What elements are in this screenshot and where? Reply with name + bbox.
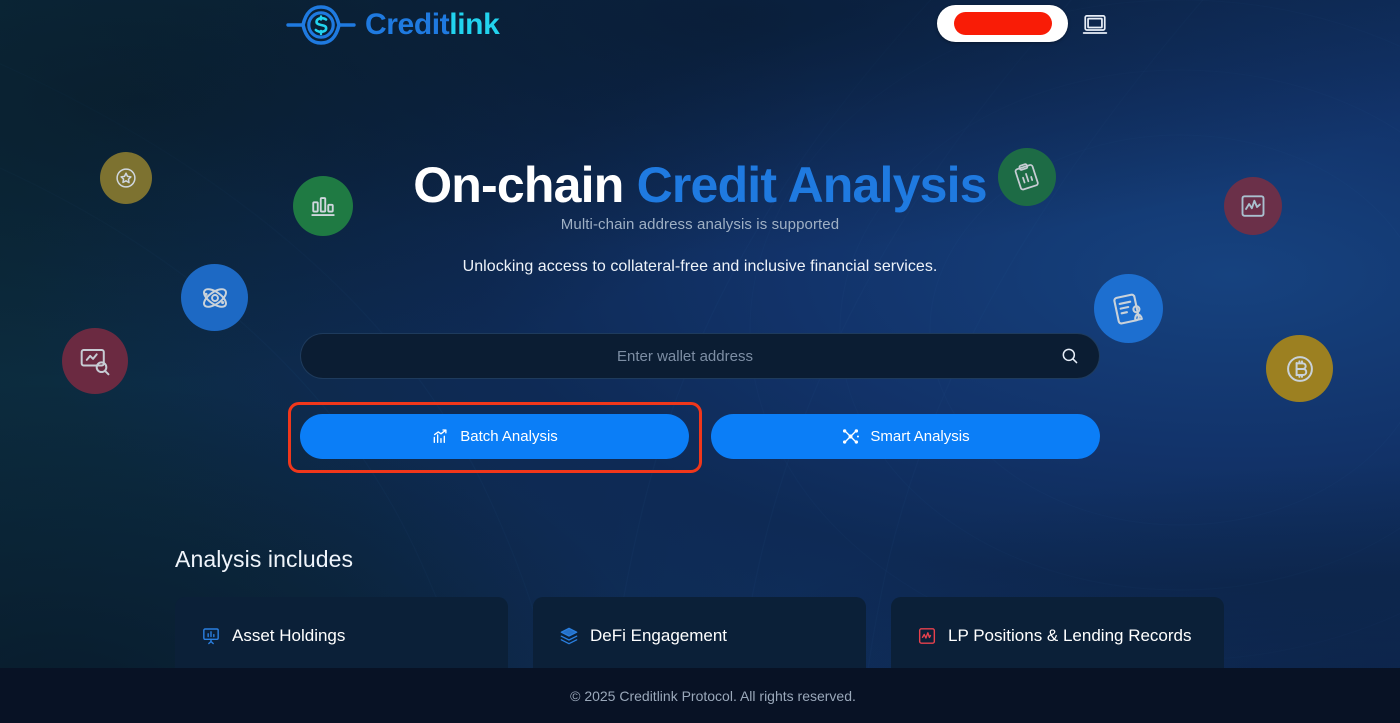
network-nodes-icon bbox=[841, 427, 860, 446]
smart-analysis-button[interactable]: Smart Analysis bbox=[711, 414, 1100, 459]
page-title: On-chain Credit Analysis bbox=[0, 156, 1400, 214]
batch-analysis-label: Batch Analysis bbox=[460, 428, 558, 445]
brand-name: Creditlink bbox=[365, 3, 499, 47]
creditlink-logo-icon bbox=[286, 3, 356, 47]
creditlink-landing-page: Creditlink On-chain Credit Analysis Mult… bbox=[0, 0, 1400, 723]
analysis-includes-cards: Asset Holdings DeFi Engagement LP Positi… bbox=[175, 597, 1224, 675]
bar-chart-trend-icon bbox=[431, 427, 450, 446]
card-defi-engagement[interactable]: DeFi Engagement bbox=[533, 597, 866, 675]
presentation-chart-icon bbox=[201, 626, 221, 646]
card-label: DeFi Engagement bbox=[590, 626, 727, 646]
batch-analysis-button[interactable]: Batch Analysis bbox=[300, 414, 689, 459]
card-label: Asset Holdings bbox=[232, 626, 345, 646]
brand-logo[interactable]: Creditlink bbox=[286, 3, 499, 47]
wallet-connect-button[interactable] bbox=[937, 5, 1068, 42]
analysis-actions: Batch Analysis Smart Analysis bbox=[300, 414, 1100, 459]
brand-name-part1: Credit bbox=[365, 8, 449, 41]
page-title-part2: Credit Analysis bbox=[637, 157, 987, 213]
card-asset-holdings[interactable]: Asset Holdings bbox=[175, 597, 508, 675]
layers-icon bbox=[559, 626, 579, 646]
activity-box-icon bbox=[917, 626, 937, 646]
search-icon bbox=[1060, 346, 1080, 366]
card-label: LP Positions & Lending Records bbox=[948, 626, 1192, 646]
page-tagline: Unlocking access to collateral-free and … bbox=[0, 258, 1400, 276]
site-header: Creditlink bbox=[0, 0, 1400, 50]
monitor-icon[interactable] bbox=[1082, 11, 1108, 37]
page-title-part1: On-chain bbox=[413, 157, 623, 213]
site-footer: © 2025 Creditlink Protocol. All rights r… bbox=[0, 668, 1400, 723]
footer-copyright: © 2025 Creditlink Protocol. All rights r… bbox=[544, 688, 856, 704]
search-box[interactable] bbox=[300, 333, 1100, 379]
header-actions bbox=[937, 5, 1108, 42]
card-lp-positions-lending-records[interactable]: LP Positions & Lending Records bbox=[891, 597, 1224, 675]
smart-analysis-label: Smart Analysis bbox=[870, 428, 969, 445]
wallet-connect-redacted-label bbox=[954, 12, 1052, 35]
search-input[interactable] bbox=[301, 334, 1099, 378]
brand-name-part2: link bbox=[449, 8, 499, 41]
wallet-search bbox=[300, 333, 1100, 379]
search-submit-button[interactable] bbox=[1055, 341, 1085, 371]
analysis-includes-heading: Analysis includes bbox=[175, 546, 353, 573]
page-subtitle: Multi-chain address analysis is supporte… bbox=[0, 216, 1400, 233]
